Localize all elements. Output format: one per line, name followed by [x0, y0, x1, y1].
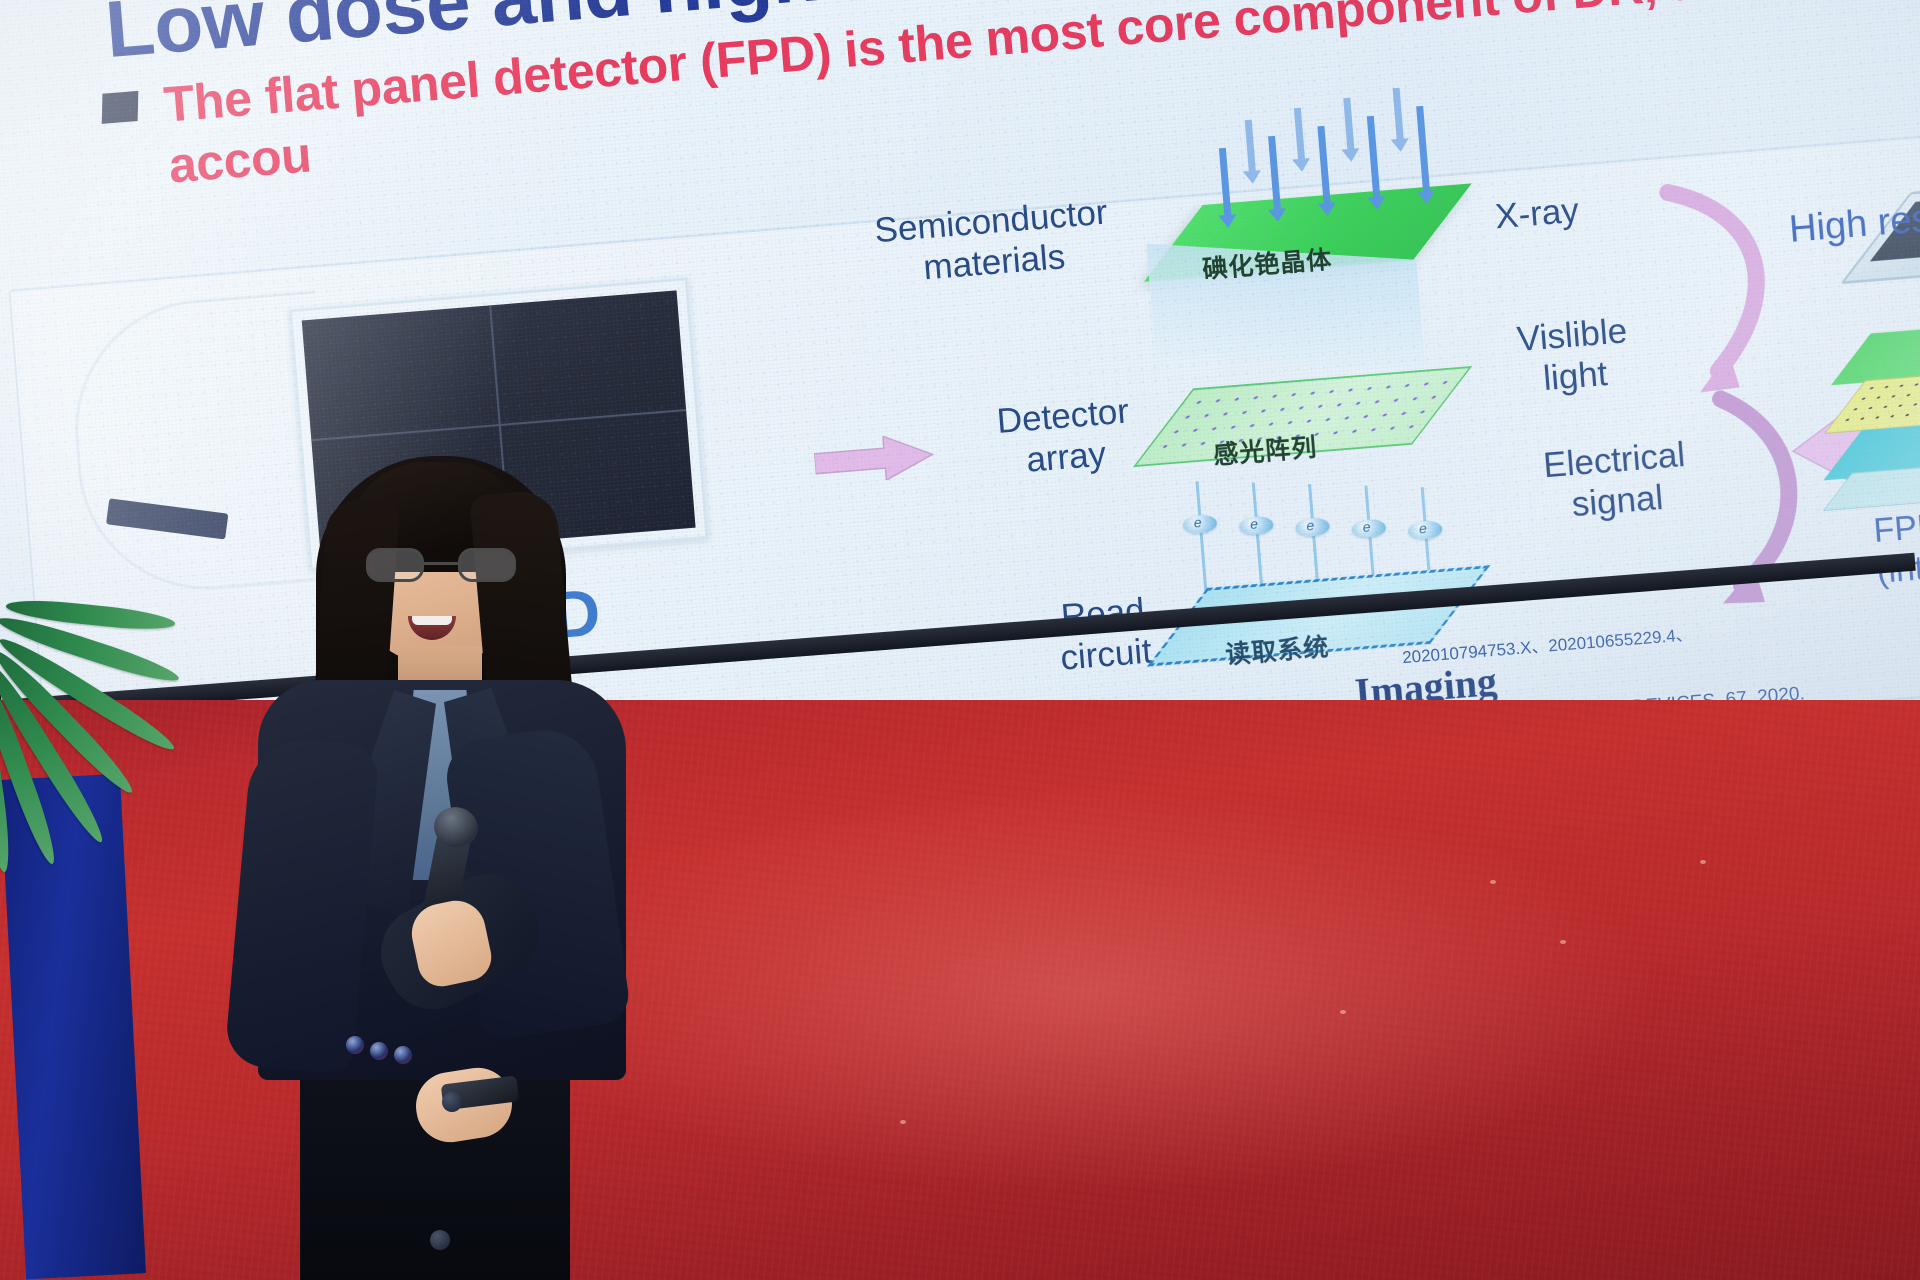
screenshot-root: SHANGHAI UNIVERSITY 上海大学 SHANGHAI UNIVER… [0, 0, 1920, 1280]
blazer-button-2 [430, 1230, 450, 1250]
carpet-speck-5 [900, 1120, 906, 1124]
blazer-pin-3 [394, 1046, 412, 1064]
potted-palm-plant [0, 570, 230, 990]
carpet-speck-2 [1560, 940, 1566, 944]
carpet-speck-4 [1700, 860, 1706, 864]
blazer-button-1 [442, 1092, 462, 1112]
blazer-pin-1 [346, 1036, 364, 1054]
carpet-speck-3 [1340, 1010, 1346, 1014]
carpet-light-pool [480, 780, 1680, 1200]
speaker-person [230, 440, 650, 1280]
glasses-lens-right [458, 548, 516, 582]
speaker-glasses-icon [366, 548, 516, 582]
glasses-bridge [424, 562, 458, 565]
glasses-lens-left [366, 548, 424, 582]
carpet-speck-1 [1490, 880, 1496, 884]
blazer-pin-2 [370, 1042, 388, 1060]
